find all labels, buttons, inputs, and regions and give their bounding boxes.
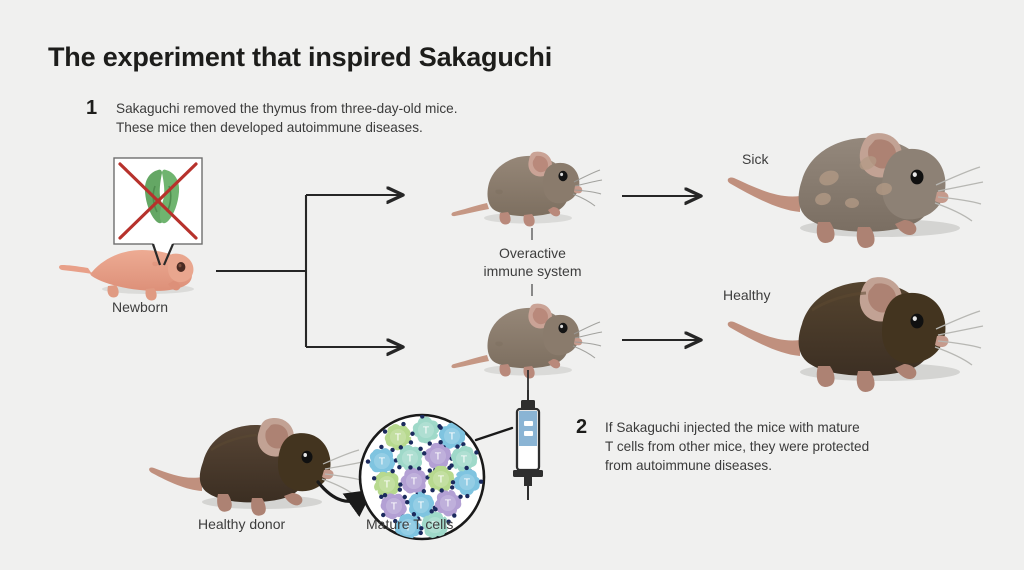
t-cell: T xyxy=(428,466,455,493)
tcells-to-syringe-line xyxy=(476,428,512,440)
t-cell-letter: T xyxy=(445,498,452,510)
t-cell-letter: T xyxy=(395,432,402,444)
t-cell-receptor-dot xyxy=(449,463,453,467)
t-cell-receptor-dot xyxy=(410,432,414,436)
caption-healthy: Healthy xyxy=(723,287,770,303)
t-cell-receptor-dot xyxy=(430,509,434,513)
t-cell-receptor-dot xyxy=(433,468,437,472)
newborn-mouse xyxy=(59,244,194,300)
t-cell-receptor-dot xyxy=(401,422,405,426)
t-cell-receptor-dot xyxy=(474,450,478,454)
t-cell-receptor-dot xyxy=(461,442,465,446)
t-cell: T xyxy=(438,422,465,449)
t-cell-receptor-dot xyxy=(436,536,440,540)
thymus-callout xyxy=(114,158,202,268)
t-cell-receptor-dot xyxy=(433,507,437,511)
t-cell: T xyxy=(451,466,483,498)
caption-newborn: Newborn xyxy=(112,299,168,315)
t-cell-letter: T xyxy=(438,474,445,486)
t-cell-receptor-dot xyxy=(451,480,455,484)
t-cell-receptor-dot xyxy=(438,426,442,430)
diagram-canvas: The experiment that inspired Sakaguchi 1… xyxy=(0,0,1024,570)
t-cell: T xyxy=(398,465,430,497)
t-cell-letter: T xyxy=(418,500,425,512)
t-cell-receptor-dot xyxy=(398,487,402,491)
t-cell-receptor-dot xyxy=(438,440,442,444)
t-cell-letter: T xyxy=(407,453,414,465)
caption-mature-t-cells: Mature T cells xyxy=(366,516,453,532)
t-cell-receptor-dot xyxy=(366,459,370,463)
t-cell-receptor-dot xyxy=(400,538,404,542)
t-cell-receptor-dot xyxy=(390,448,394,452)
t-cell-receptor-dot xyxy=(422,489,426,493)
t-cell-receptor-dot xyxy=(397,465,401,469)
t-cell-receptor-dot xyxy=(447,466,451,470)
t-cell-receptor-dot xyxy=(439,488,443,492)
t-cell-receptor-dot xyxy=(468,469,472,473)
donor-to-tcells-arrow xyxy=(318,482,364,501)
t-cell-receptor-dot xyxy=(464,466,468,470)
mouse-thymectomized-bottom xyxy=(451,304,602,379)
t-cell-receptor-dot xyxy=(422,451,426,455)
t-cell-receptor-dot xyxy=(408,465,412,469)
thymus-icon xyxy=(145,170,179,224)
caption-sick: Sick xyxy=(742,151,768,167)
t-cell-letter: T xyxy=(391,501,398,513)
t-cell-receptor-dot xyxy=(417,466,421,470)
t-cell-receptor-dot xyxy=(433,506,437,510)
t-cell-receptor-dot xyxy=(379,495,383,499)
t-cell-receptor-dot xyxy=(420,414,424,418)
t-cell-receptor-dot xyxy=(418,447,422,451)
step-1-number: 1 xyxy=(86,97,97,120)
t-cell-letter: T xyxy=(411,476,418,488)
t-cell-receptor-dot xyxy=(415,492,419,496)
t-cell: T xyxy=(372,469,402,499)
t-cell-receptor-dot xyxy=(442,445,446,449)
step-1-text: Sakaguchi removed the thymus from three-… xyxy=(116,99,458,137)
page-title: The experiment that inspired Sakaguchi xyxy=(48,42,552,73)
branch-arrows xyxy=(216,195,402,347)
t-cell-letter: T xyxy=(449,431,456,443)
t-cell-receptor-dot xyxy=(390,469,394,473)
t-cell-receptor-dot xyxy=(379,445,383,449)
t-cell-receptor-dot xyxy=(425,475,429,479)
t-cell-receptor-dot xyxy=(380,473,384,477)
t-cell-receptor-dot xyxy=(450,485,454,489)
step-2-number: 2 xyxy=(576,416,587,439)
t-cell-receptor-dot xyxy=(430,488,434,492)
t-cell-letter: T xyxy=(384,479,391,491)
t-cell-receptor-dot xyxy=(450,456,454,460)
syringe xyxy=(513,370,543,500)
t-cell-letter: T xyxy=(461,454,468,466)
t-cell: T xyxy=(433,488,462,517)
step-2-text: If Sakaguchi injected the mice with matu… xyxy=(605,418,869,475)
mouse-healthy-donor xyxy=(149,418,362,516)
t-cell-receptor-dot xyxy=(455,444,459,448)
t-cell-letter: T xyxy=(423,425,430,437)
t-cell-receptor-dot xyxy=(465,494,469,498)
t-cell-letter: T xyxy=(464,477,471,489)
t-cell-receptor-dot xyxy=(398,482,402,486)
t-cell-receptor-dot xyxy=(383,429,387,433)
caption-overactive-immune-system: Overactive immune system xyxy=(455,244,610,280)
t-cell-receptor-dot xyxy=(394,458,398,462)
illustration-layer: TTTTTTTTTTTTTTTT xyxy=(0,0,1024,570)
t-cell-receptor-dot xyxy=(428,441,432,445)
t-cell-receptor-dot xyxy=(405,500,409,504)
t-cell-receptor-dot xyxy=(409,440,413,444)
t-cell-receptor-dot xyxy=(428,468,432,472)
t-cell-receptor-dot xyxy=(399,445,403,449)
mouse-thymectomized-top xyxy=(451,152,602,227)
t-cell-receptor-dot xyxy=(403,495,407,499)
t-cell-receptor-dot xyxy=(437,424,441,428)
t-cell: T xyxy=(410,414,441,445)
t-cell-letter: T xyxy=(435,451,442,463)
t-cell: T xyxy=(449,444,478,473)
t-cell-receptor-dot xyxy=(458,494,462,498)
outcome-arrows xyxy=(622,196,700,340)
t-cell-receptor-dot xyxy=(458,422,462,426)
t-cell: T xyxy=(383,422,413,452)
t-cell-receptor-dot xyxy=(372,476,376,480)
t-cell-receptor-dot xyxy=(479,479,483,483)
t-cell: T xyxy=(422,440,454,472)
t-cell-letter: T xyxy=(379,456,386,468)
t-cell-receptor-dot xyxy=(383,493,387,497)
caption-healthy-donor: Healthy donor xyxy=(198,516,285,532)
t-cell: T xyxy=(366,445,398,477)
t-cell: T xyxy=(397,445,423,472)
red-x-icon xyxy=(120,164,196,238)
